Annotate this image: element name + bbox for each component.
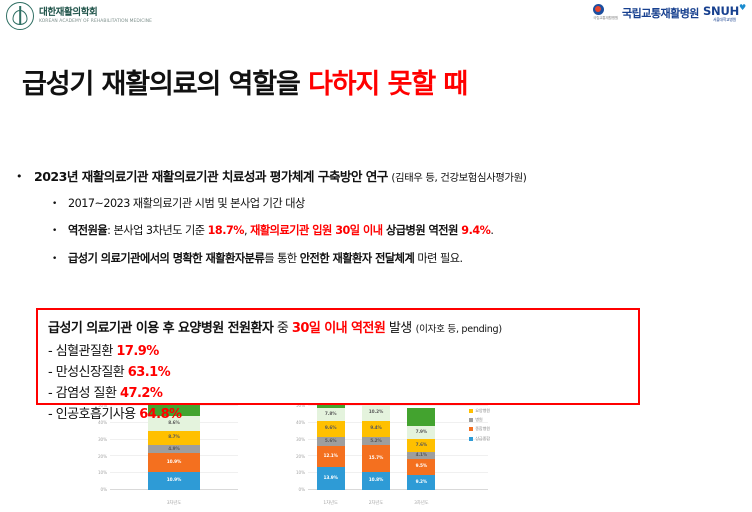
bar-stack: 10.8%15.7%5.2%9.4%10.2% [362,401,390,490]
sub3-p1: 를 통한 [264,252,300,265]
highlight-item-cardio: - 심혈관질환 17.9% [48,340,159,359]
highlight-mid: 중 [273,321,292,336]
sub-bullet-1-text: 2017~2023 재활의료기관 시범 및 본사업 기간 대상 [68,197,305,210]
chart-legend: 요양병원병원종합병원상급종합 [469,408,490,445]
y-axis-tick: 20% [88,454,107,459]
legend-item: 병원 [469,417,490,423]
item-value: 64.8% [139,407,181,422]
reversal-rate-label: 역전원율 [68,224,107,237]
legend-swatch [469,427,473,431]
title-black-tail: 을 [276,69,300,100]
highlight-item-ckd: - 만성신장질환 63.1% [48,361,170,380]
bullet-marker: • [16,170,34,183]
sub-bullet-marker: • [52,254,68,264]
nthc-snuh-logo: 국립교통재활병원 국립교통재활병원 SNUH♥ 서울대학교병원 [593,3,746,23]
bar-segment: 9.5% [407,459,435,475]
sub3-p3: 마련 필요. [414,252,462,265]
highlight-box: 급성기 의료기관 이용 후 요양병원 전원환자 중 30일 이내 역전원 발생 … [36,308,640,405]
legend-item: 상급종합 [469,436,490,442]
bar-segment: 9.2% [407,475,435,490]
kram-logo-kr: 대한재활의학회 [39,8,152,18]
bar-segment: 7.6% [407,439,435,452]
y-axis-tick: 40% [286,420,305,425]
sub-bullet-3: •급성기 의료기관에서의 명확한 재활환자분류를 통한 안전한 재활환자 전달체… [52,250,463,266]
y-axis-tick: 0% [88,487,107,492]
sub-bullet-2: •역전원율: 본사업 3차년도 기준 18.7%, 재활의료기관 입원 30일 … [52,222,493,238]
highlight-source: (이자호 등, pending) [416,324,502,335]
reversal-rate-value: 18.7% [208,224,244,237]
item-label: - 만성신장질환 [48,365,124,380]
bar-segment: 10.9% [148,472,200,490]
title-red: 다하지 못할 때 [308,69,467,100]
bar-segment: 8.7% [148,431,200,446]
legend-item: 종합병원 [469,426,490,432]
item-label: - 감염성 질환 [48,386,116,401]
y-axis-tick: 0% [286,487,305,492]
bar-segment: 10.8% [362,472,390,490]
tertiary-reversal-value: 9.4% [461,224,490,237]
y-axis-tick: 10% [286,470,305,475]
bar-segment: 9.4% [362,421,390,437]
x-axis-tick: 2차년도 [353,500,398,506]
sub2-p5: 상급병원 역전원 [383,224,462,237]
item-label: - 인공호흡기사용 [48,407,136,422]
snuh-heart-icon: ♥ [739,3,746,12]
sub-bullet-1: •2017~2023 재활의료기관 시범 및 본사업 기간 대상 [52,195,305,211]
bar-segment: 10.2% [362,404,390,421]
bar-segment: 9.6% [317,421,345,437]
sub2-p7: . [490,224,493,237]
legend-swatch [469,437,473,441]
snuh-name: SNUH♥ [703,3,746,18]
legend-label: 종합병원 [475,426,490,432]
nthc-mark-icon [593,4,604,15]
sub-bullet-marker: • [52,199,68,209]
bar-segment: 7.9% [407,426,435,439]
highlight-red: 30일 이내 역전원 [292,321,385,336]
y-axis-tick: 20% [286,454,305,459]
bar-segment [407,408,435,426]
highlight-pre: 급성기 의료기관 이용 후 요양병원 전원환자 [48,321,273,336]
sub-bullet-marker: • [52,226,68,236]
bar-segment: 5.6% [317,437,345,446]
legend-label: 병원 [475,417,482,423]
item-value: 17.9% [116,344,158,359]
bullet-main-source: (김태우 등, 건강보험심사평가원) [391,172,526,184]
bar-segment: 15.7% [362,445,390,471]
sub3-p0: 급성기 의료기관에서의 명확한 재활환자분류 [68,252,264,265]
bar-segment: 5.2% [362,437,390,446]
item-value: 63.1% [128,365,170,380]
kram-emblem-icon [6,2,34,30]
bullet-main-text: 2023년 재활의료기관 재활의료기관 치료성과 평가체계 구축방안 연구 [34,169,388,184]
bar-segment: 7.8% [317,408,345,421]
title-black: 급성기 재활의료의 역할 [22,69,276,100]
highlight-post: 발생 [385,321,411,336]
kram-logo: 대한재활의학회 KOREAN ACADEMY OF REHABILITATION… [6,2,152,30]
x-axis-tick: 3차년도 [399,500,444,506]
bar-segment: 10.9% [148,453,200,471]
legend-item: 요양병원 [469,408,490,414]
y-axis-tick: 30% [88,437,107,442]
bar-segment: 12.1% [317,446,345,466]
bar-stack: 13.9%12.1%5.6%9.6%7.8% [317,405,345,490]
item-value: 47.2% [120,386,162,401]
x-axis-tick: 1차년도 [308,500,353,506]
bullet-main: •2023년 재활의료기관 재활의료기관 치료성과 평가체계 구축방안 연구 (… [16,166,526,185]
sub3-p2: 안전한 재활환자 전달체계 [300,252,415,265]
page-title: 급성기 재활의료의 역할을 다하지 못할 때 [22,62,467,101]
y-axis-tick: 30% [286,437,305,442]
sub2-p1: : 본사업 3차년도 기준 [107,224,207,237]
legend-label: 요양병원 [475,408,490,414]
stacked-bar-chart-right: 0%10%20%30%40%50%13.9%12.1%5.6%9.6%7.8%1… [286,406,488,512]
bar-segment: 4.1% [407,452,435,459]
within-30days-label: 재활의료기관 입원 30일 이내 [250,224,382,237]
highlight-item-infection: - 감염성 질환 47.2% [48,382,162,401]
nthc-mark-sub: 국립교통재활병원 [593,16,618,21]
legend-swatch [469,409,473,413]
bar-segment: 13.9% [317,467,345,490]
legend-swatch [469,418,473,422]
nthc-name: 국립교통재활병원 [622,5,699,21]
bar-segment: 4.9% [148,445,200,453]
kram-logo-en: KOREAN ACADEMY OF REHABILITATION MEDICIN… [39,20,152,25]
x-axis-tick: 3차년도 [110,500,238,506]
legend-label: 상급종합 [475,436,490,442]
highlight-item-ventilator: - 인공호흡기사용 64.8% [48,403,182,422]
highlight-headline: 급성기 의료기관 이용 후 요양병원 전원환자 중 30일 이내 역전원 발생 … [48,317,502,336]
y-axis-tick: 10% [88,470,107,475]
item-label: - 심혈관질환 [48,344,113,359]
bar-stack: 9.2%9.5%4.1%7.6%7.9% [407,408,435,490]
